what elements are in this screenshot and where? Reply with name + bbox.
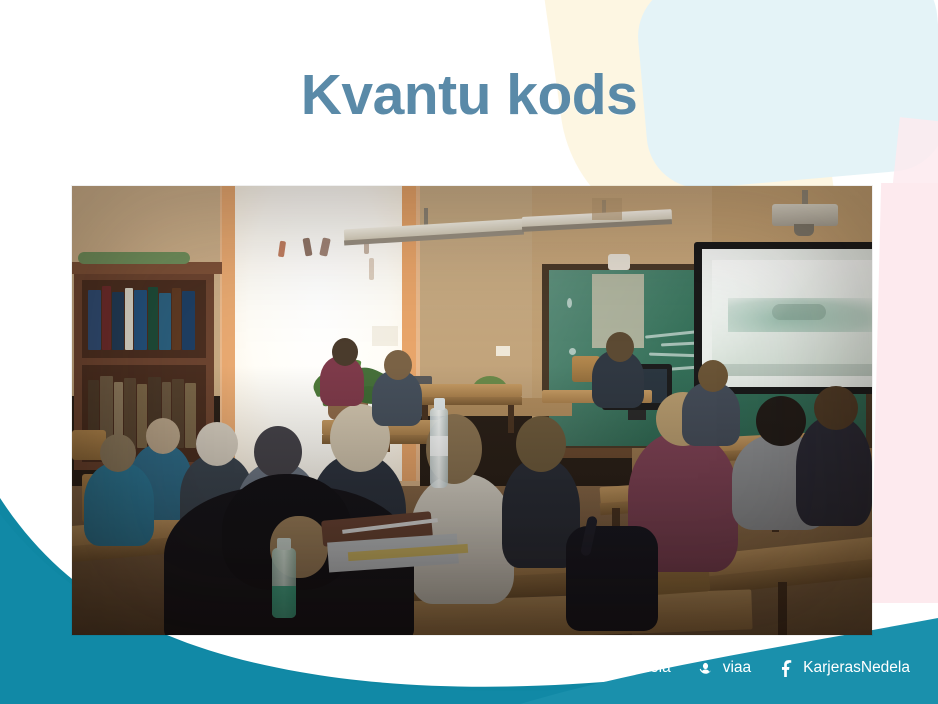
footer-item-draugiem[interactable]: viaa — [697, 659, 751, 677]
decor-pink-right-shape — [871, 183, 938, 603]
footer-links: viaa.gov.lv/karjeras_nedela viaa Karjera… — [0, 632, 938, 704]
slide-title: Kvantu kods — [0, 66, 938, 126]
footer-item-website[interactable]: viaa.gov.lv/karjeras_nedela — [458, 659, 671, 677]
home-icon — [458, 659, 476, 677]
footer-label-website: viaa.gov.lv/karjeras_nedela — [484, 659, 671, 677]
footer-label-facebook: KarjerasNedela — [803, 659, 910, 677]
presentation-slide: Kvantu kods — [0, 0, 938, 704]
footer-label-draugiem: viaa — [723, 659, 751, 677]
classroom-photo — [72, 186, 872, 635]
footer-item-facebook[interactable]: KarjerasNedela — [777, 659, 910, 677]
facebook-icon — [777, 659, 795, 677]
draugiem-icon — [697, 659, 715, 677]
photo-vignette — [72, 186, 872, 635]
decor-pink-top-shape — [890, 117, 938, 213]
